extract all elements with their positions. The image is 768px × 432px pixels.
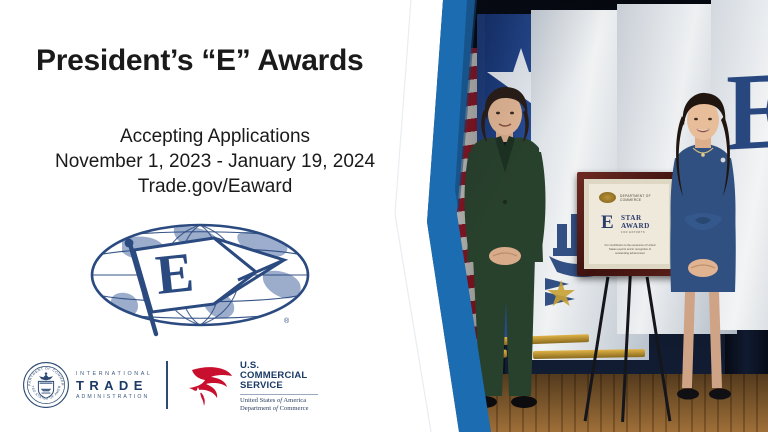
eawards-globe-logo: E ® <box>88 218 318 340</box>
left-text-panel: President’s “E” Awards Accepting Applica… <box>0 0 430 432</box>
cs-rule <box>240 394 318 395</box>
cs-tagline-country: United States of America <box>240 397 318 405</box>
department-of-commerce-seal-icon: DEPARTMENT OF COMMERCE UNITED STATES OF … <box>22 361 70 409</box>
subtitle-block: Accepting Applications November 1, 2023 … <box>10 124 420 199</box>
commercial-service-wordmark: U.S. COMMERCIAL SERVICE United States of… <box>240 361 318 413</box>
ita-wordmark: INTERNATIONAL TRADE ADMINISTRATION <box>76 371 153 400</box>
registered-trademark-mark: ® <box>284 318 289 325</box>
ita-logo: DEPARTMENT OF COMMERCE UNITED STATES OF … <box>14 355 144 417</box>
slide-root: President’s “E” Awards Accepting Applica… <box>0 0 768 432</box>
logo-divider <box>166 361 168 409</box>
svg-text:E: E <box>153 241 197 307</box>
photo-vignette <box>381 0 768 432</box>
cs-line-service: SERVICE <box>240 381 318 391</box>
subtitle-line-url: Trade.gov/Eaward <box>10 174 420 199</box>
us-commercial-service-logo: U.S. COMMERCIAL SERVICE United States of… <box>184 357 334 415</box>
award-ceremony-photo: E E ★ DEPARTMENT OF COMMERCE E STAR <box>381 0 768 432</box>
cs-tagline-department: Department of Commerce <box>240 405 318 413</box>
ita-line-trade: TRADE <box>76 378 153 393</box>
subtitle-line-dates: November 1, 2023 - January 19, 2024 <box>10 149 420 174</box>
subtitle-line-accepting: Accepting Applications <box>10 124 420 149</box>
page-title: President’s “E” Awards <box>36 44 416 78</box>
commercial-service-swoosh-icon <box>184 361 236 409</box>
ita-line-international: INTERNATIONAL <box>76 371 153 377</box>
ita-line-administration: ADMINISTRATION <box>76 394 153 400</box>
bottom-logo-bar: DEPARTMENT OF COMMERCE UNITED STATES OF … <box>14 355 324 417</box>
